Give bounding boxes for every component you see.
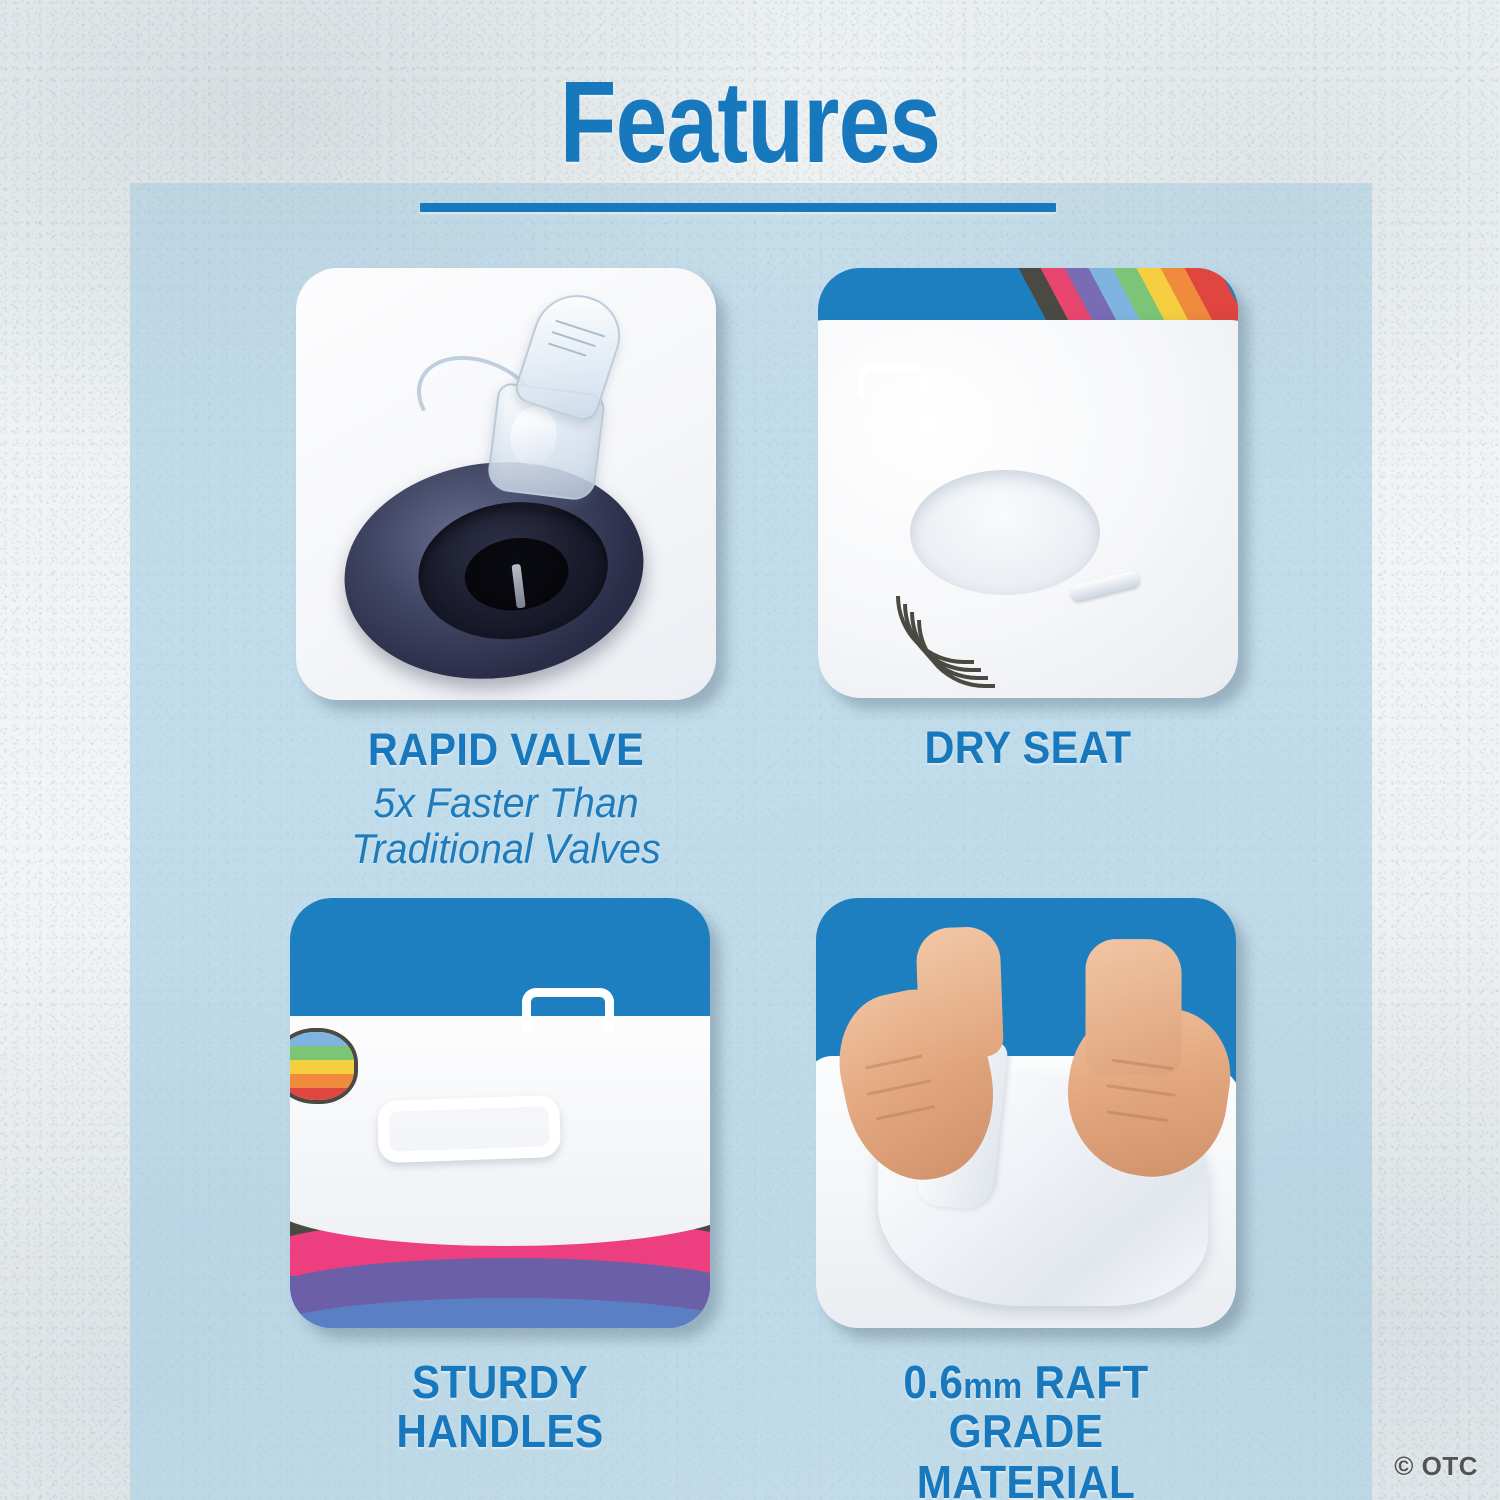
measure-unit: mm [963,1365,1022,1406]
subcaption-rapid-valve-line1: 5x Faster Than [309,780,704,826]
copyright-watermark: © OTC [1394,1451,1478,1482]
caption-raft-grade-material-line1: 0.6mm RAFT GRADE [833,1358,1219,1456]
valve-hole-icon [461,532,573,616]
subcaption-rapid-valve-line2: Traditional Valves [309,826,704,872]
title-underline-rule [420,203,1056,212]
rapid-valve-photo [296,268,716,700]
rear-handle-icon [522,988,614,1032]
mane-comb-lines-icon [896,596,996,692]
dry-seat-well-icon [910,470,1100,595]
caption-rapid-valve: RAPID VALVE [313,726,699,774]
left-forearm [915,926,1003,1059]
page-title: Features [150,64,1350,180]
valve-pin-icon [511,564,525,609]
float-nozzle-icon [1069,570,1141,602]
valve-flap-icon [512,284,631,425]
float-body-shape [818,320,1238,698]
sturdy-handles-photo [290,898,710,1328]
rainbow-mane-tab-icon [290,1028,358,1104]
right-forearm [1086,939,1182,1075]
valve-ring-icon [411,492,616,650]
dry-seat-photo [818,268,1238,698]
front-handle-icon [377,1095,561,1163]
float-handle-icon [858,364,928,398]
caption-raft-grade-material-line2: MATERIAL [833,1458,1219,1500]
feature-infographic: Features RAPID VALVE 5x Faster Than Trad… [0,0,1500,1500]
feature-card-raft-grade-material: 0.6mm RAFT GRADE MATERIAL [816,898,1236,1500]
caption-sturdy-handles: STURDY HANDLES [307,1358,693,1456]
feature-card-sturdy-handles: STURDY HANDLES [290,898,710,1456]
feature-card-dry-seat: DRY SEAT [818,268,1238,772]
caption-dry-seat: DRY SEAT [835,724,1221,772]
measure-value: 0.6 [903,1356,963,1408]
feature-card-rapid-valve: RAPID VALVE 5x Faster Than Traditional V… [296,268,716,872]
raft-material-photo [816,898,1236,1328]
